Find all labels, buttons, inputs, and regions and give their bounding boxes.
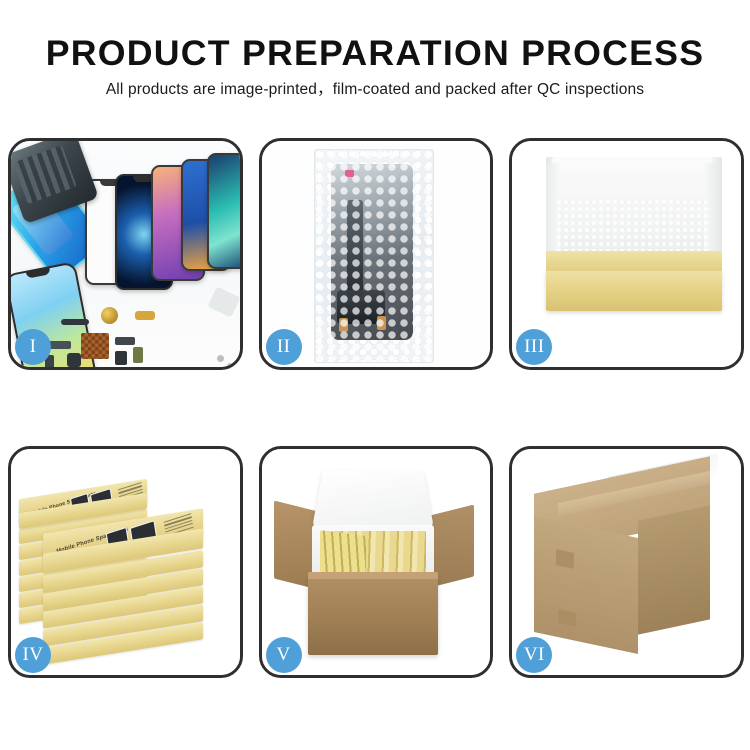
step-panel-6[interactable]: VI [509,446,744,678]
phone-screen-teal-wallpaper [207,153,240,269]
step-badge-4: IV [15,637,51,673]
part-bracket [49,341,71,349]
process-row-bottom: Mobile Phone Spare Parts [8,446,744,678]
part-screw-b [227,363,233,367]
part-flex-strip [61,319,89,325]
step-badge-2: II [266,329,302,365]
gold-box-stack: Mobile Phone Spare Parts [15,467,235,663]
step-badge-5: V [266,637,302,673]
foam-lid-open [312,470,434,528]
step-panel-1[interactable]: I [8,138,243,370]
step-panel-3[interactable]: III [509,138,744,370]
step-panel-4[interactable]: Mobile Phone Spare Parts [8,446,243,678]
carton-tab-upper [556,549,574,569]
step-panel-5[interactable]: V [259,446,494,678]
header: PRODUCT PREPARATION PROCESS All products… [0,34,750,100]
part-speaker-round [101,307,118,324]
page-title: PRODUCT PREPARATION PROCESS [0,34,750,74]
step-6-image [512,449,741,675]
part-sensor-block [133,347,143,363]
gold-box-tray [546,269,722,311]
part-gold-connector [135,311,155,320]
part-vibration-motor [115,351,127,365]
sealed-carton-side [638,505,710,634]
step-badge-1: I [15,329,51,365]
process-steps-grid: I II [8,138,744,678]
part-camera-module [67,353,81,367]
bubble-overlay [315,150,433,362]
part-connector-strip [115,337,135,345]
bubble-wrap-bag [314,149,434,363]
part-screw-a [217,355,224,362]
process-row-top: I II [8,138,744,370]
step-3-image [512,141,741,367]
carton-body [308,577,438,655]
part-copper-shield [81,333,109,359]
product-preparation-infographic: PRODUCT PREPARATION PROCESS All products… [0,0,750,750]
step-panel-2[interactable]: II [259,138,494,370]
sealed-carton-front [534,516,638,654]
page-subtitle: All products are image-printed，film-coat… [0,80,750,100]
part-tool-tweezers [208,287,240,318]
